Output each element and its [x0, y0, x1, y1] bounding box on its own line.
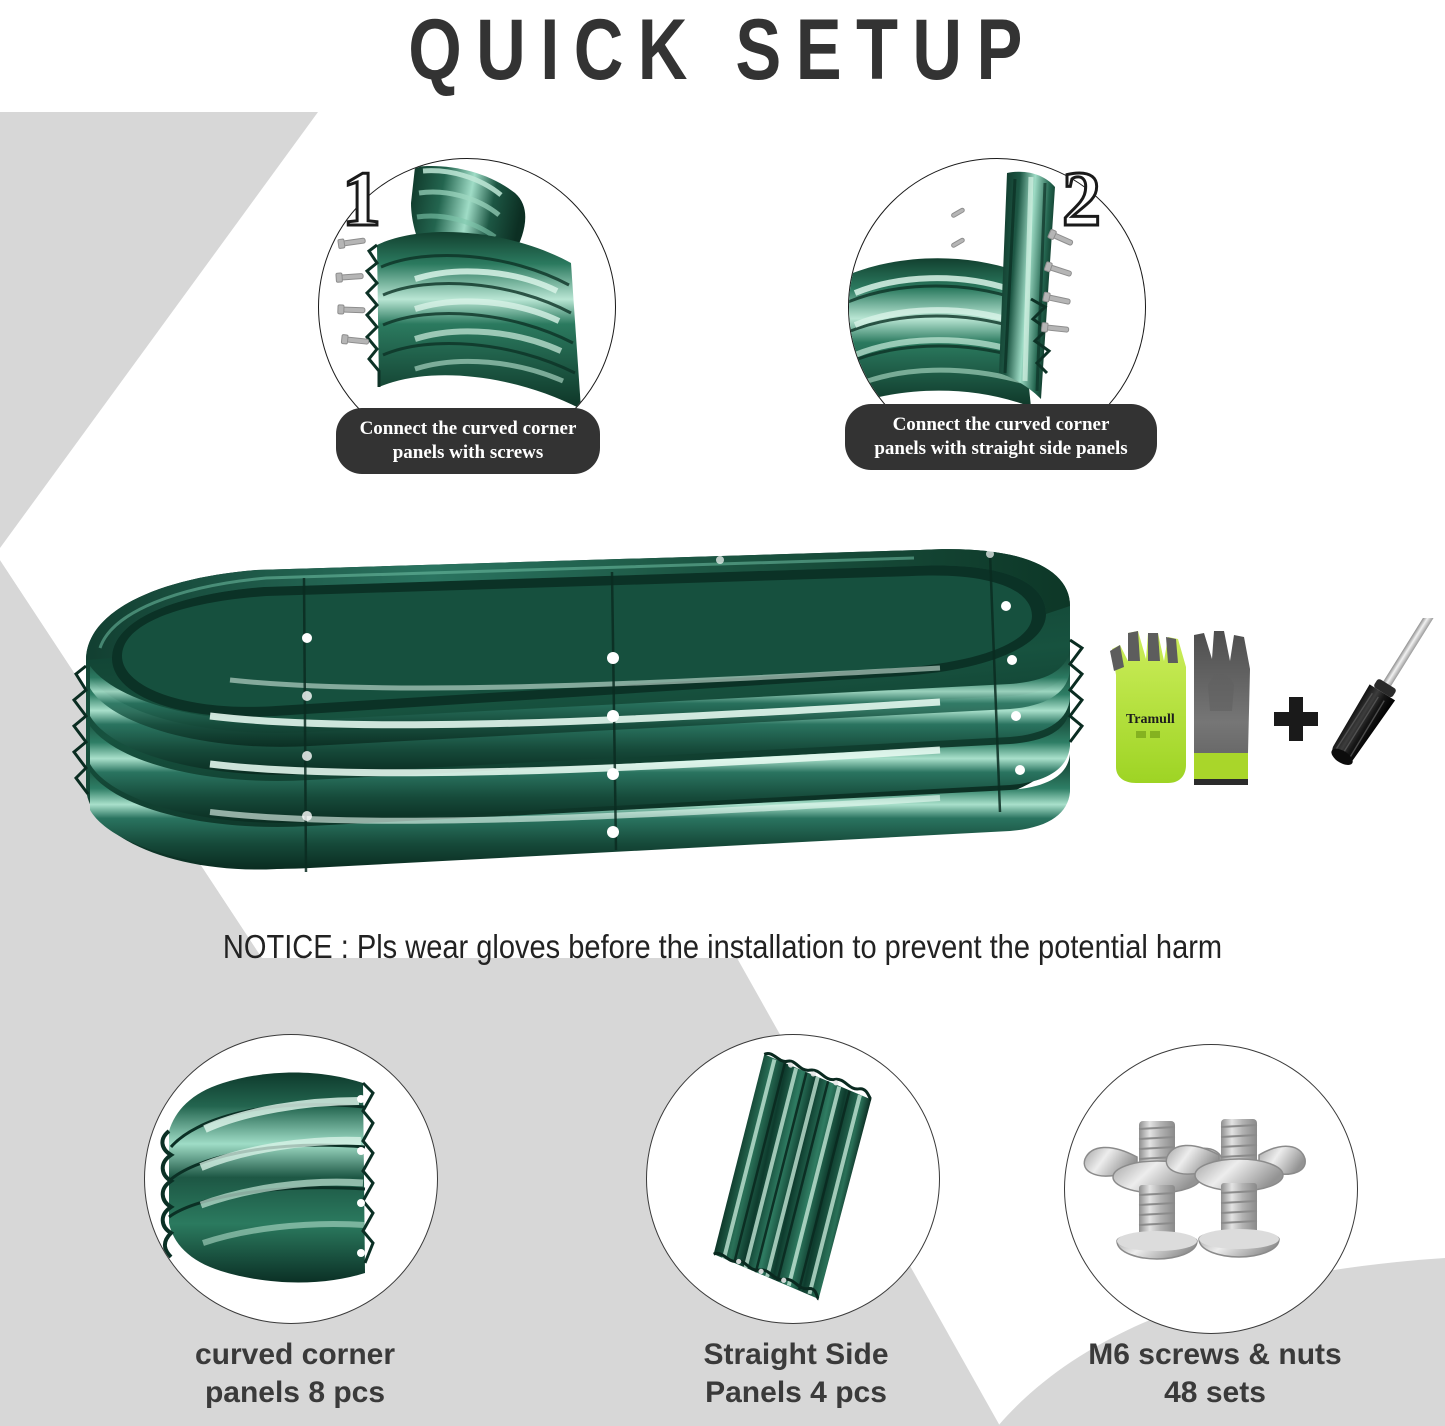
glove-right [1194, 631, 1250, 785]
part-1-label: curved corner panels 8 pcs [110, 1336, 480, 1412]
step-2-caption: Connect the curved corner panels with st… [845, 404, 1157, 470]
hero-product-image [60, 520, 1090, 920]
part-2-label: Straight Side Panels 4 pcs [616, 1336, 976, 1412]
straight-panel-shape [709, 1051, 876, 1301]
part-curved-corner [144, 1034, 440, 1326]
straight-side-panel-icon [647, 1035, 939, 1323]
glove-brand-text: Tramull [1126, 712, 1175, 727]
screws-and-wing-nuts-icon [1065, 1045, 1357, 1333]
part-2-circle [646, 1034, 940, 1324]
curved-corner-panel-icon [145, 1035, 437, 1323]
step-2-number: 2 [1062, 160, 1101, 238]
part-3-label: M6 screws & nuts 48 sets [1030, 1336, 1400, 1412]
part-1-circle [144, 1034, 438, 1324]
right-stepped-edge [1070, 640, 1082, 742]
screws-group [336, 236, 369, 346]
part-3-circle [1064, 1044, 1358, 1334]
corner-panel-front [367, 232, 581, 409]
plus-icon [1274, 697, 1318, 741]
step-1-number: 1 [342, 160, 381, 238]
gloves-image: Tramull [1098, 615, 1283, 795]
screwdriver-image [1318, 618, 1443, 778]
step-1-caption: Connect the curved corner panels with sc… [336, 408, 600, 474]
left-stepped-edge [74, 666, 88, 794]
glove-left: Tramull [1110, 631, 1186, 783]
part-straight-side [646, 1034, 942, 1326]
infographic-canvas: QUICK SETUP [0, 0, 1445, 1426]
part-screws-nuts [1064, 1044, 1360, 1336]
notice-text: NOTICE : Pls wear gloves before the inst… [87, 925, 1359, 969]
corner-panel-shape [162, 1072, 373, 1282]
page-title: QUICK SETUP [145, 2, 1301, 98]
garden-bed-body [74, 549, 1082, 872]
straight-panel-vertical [999, 172, 1055, 399]
